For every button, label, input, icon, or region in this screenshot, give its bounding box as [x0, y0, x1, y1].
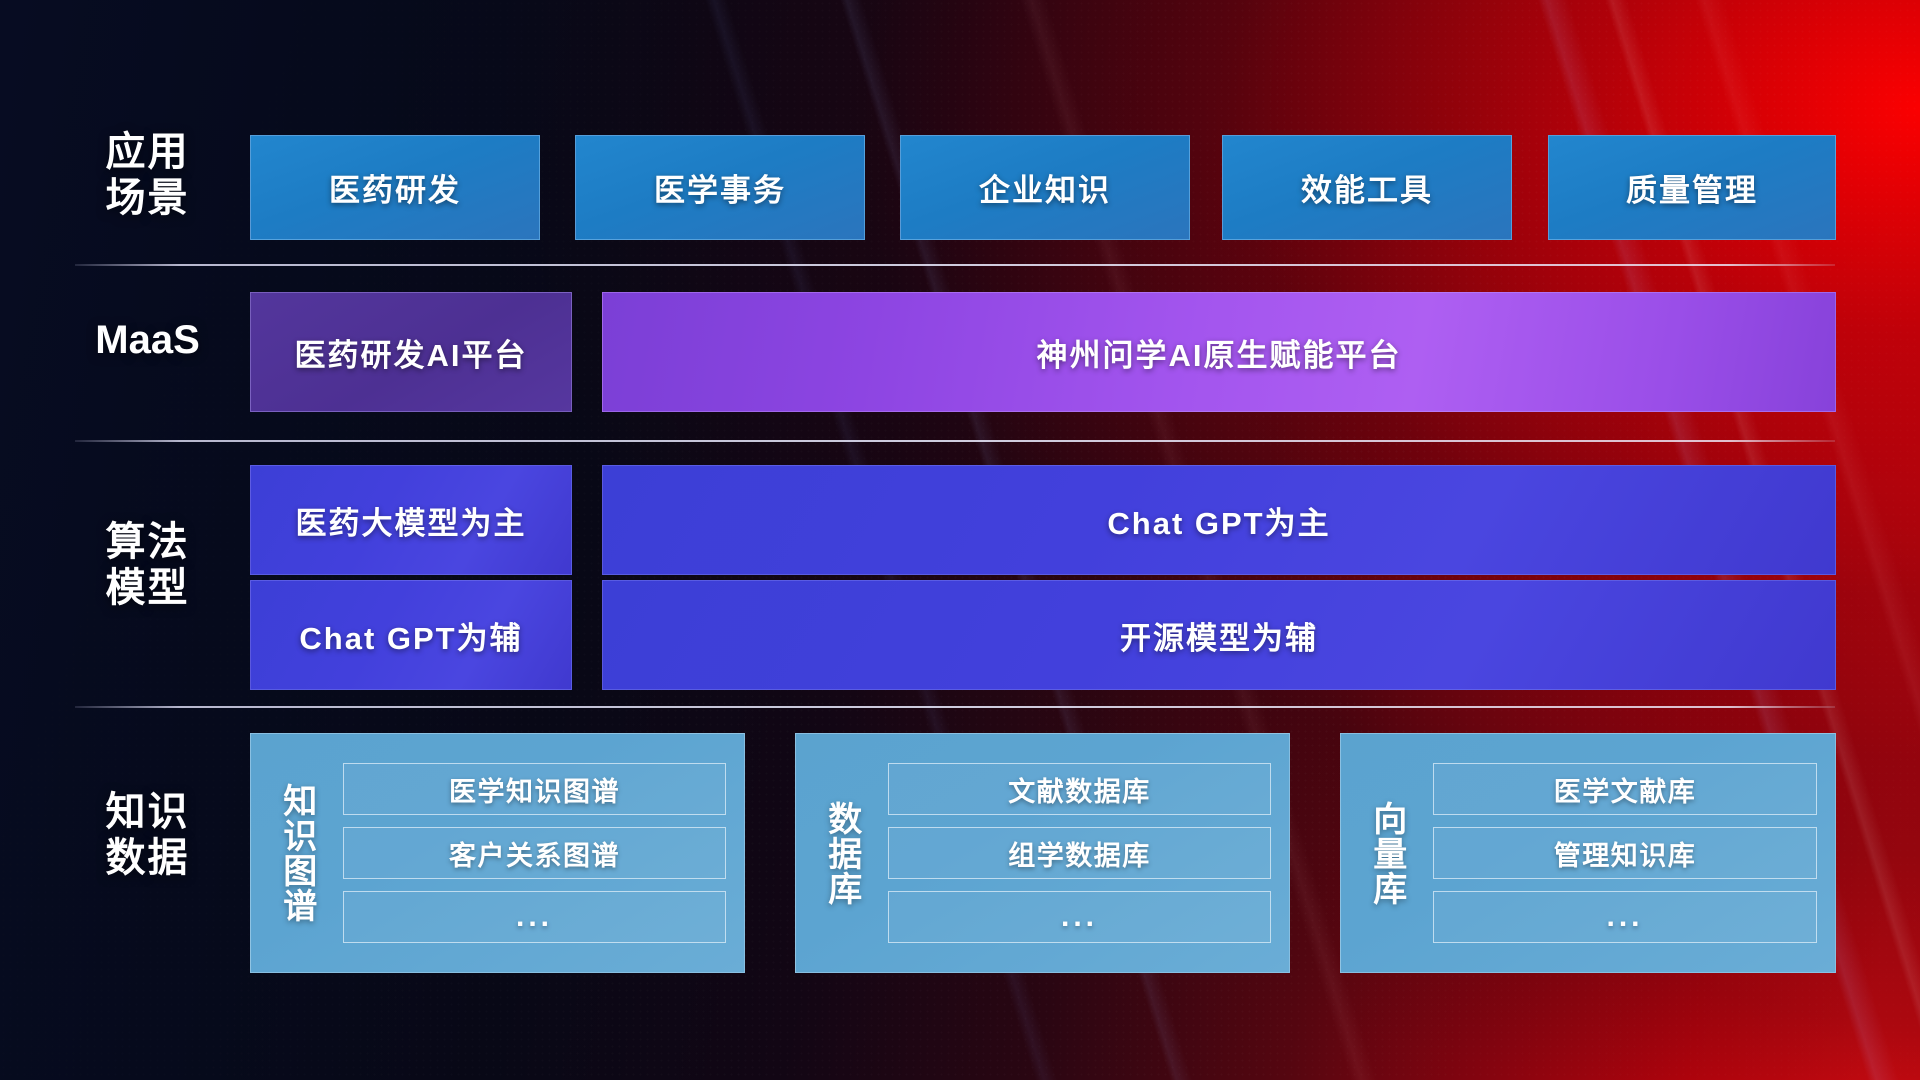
app-box-5[interactable]: 质量管理 [1548, 135, 1836, 240]
app-box-1[interactable]: 医药研发 [250, 135, 540, 240]
algo-right-box-1-label: Chat GPT为主 [1107, 498, 1330, 543]
divider-1 [75, 264, 1835, 266]
app-box-2-label: 医学事务 [654, 165, 786, 210]
row-label-kd-line-1: 知识 [80, 790, 215, 836]
row-label-kd-line-2: 数据 [80, 836, 215, 882]
divider-2 [75, 440, 1835, 442]
divider-3 [75, 706, 1835, 708]
app-box-3[interactable]: 企业知识 [900, 135, 1190, 240]
slide-canvas: 应用 场景 医药研发 医学事务 企业知识 效能工具 质量管理 MaaS 医药研发… [0, 0, 1920, 1080]
row-label-maas: MaaS [80, 318, 215, 364]
app-box-5-label: 质量管理 [1626, 165, 1758, 210]
knowledge-panel-2-items: 文献数据库 组学数据库 ... [888, 748, 1271, 958]
row-label-line-1: 应用 [80, 130, 215, 176]
knowledge-panel-3-item-2[interactable]: 管理知识库 [1433, 827, 1817, 879]
knowledge-panel-3-item-1[interactable]: 医学文献库 [1433, 763, 1817, 815]
knowledge-panel-2-item-1[interactable]: 文献数据库 [888, 763, 1271, 815]
algo-right-box-1[interactable]: Chat GPT为主 [602, 465, 1836, 575]
knowledge-panel-3[interactable]: 向量库 医学文献库 管理知识库 ... [1340, 733, 1836, 973]
row-label-maas-text: MaaS [80, 318, 215, 364]
maas-left-box-label: 医药研发AI平台 [295, 330, 528, 375]
app-box-4-label: 效能工具 [1301, 165, 1433, 210]
maas-left-box[interactable]: 医药研发AI平台 [250, 292, 572, 412]
row-label-line-2: 场景 [80, 176, 215, 222]
app-box-3-label: 企业知识 [979, 165, 1111, 210]
maas-right-box[interactable]: 神州问学AI原生赋能平台 [602, 292, 1836, 412]
knowledge-panel-2[interactable]: 数据库 文献数据库 组学数据库 ... [795, 733, 1290, 973]
algo-right-box-2[interactable]: 开源模型为辅 [602, 580, 1836, 690]
knowledge-panel-1-vertical-label: 知识图谱 [265, 783, 327, 923]
knowledge-panel-2-item-3[interactable]: ... [888, 891, 1271, 943]
row-label-application-scenarios: 应用 场景 [80, 130, 215, 221]
algo-left-box-2[interactable]: Chat GPT为辅 [250, 580, 572, 690]
row-label-algorithm-model: 算法 模型 [80, 520, 215, 611]
knowledge-panel-1-items: 医学知识图谱 客户关系图谱 ... [343, 748, 726, 958]
knowledge-panel-1-item-1[interactable]: 医学知识图谱 [343, 763, 726, 815]
algo-left-box-1-label: 医药大模型为主 [296, 498, 527, 543]
knowledge-panel-1-item-2[interactable]: 客户关系图谱 [343, 827, 726, 879]
knowledge-panel-1-item-3[interactable]: ... [343, 891, 726, 943]
knowledge-panel-3-vertical-label: 向量库 [1355, 801, 1417, 906]
row-label-knowledge-data: 知识 数据 [80, 790, 215, 881]
app-box-2[interactable]: 医学事务 [575, 135, 865, 240]
knowledge-panel-3-item-3[interactable]: ... [1433, 891, 1817, 943]
knowledge-panel-2-vertical-label: 数据库 [810, 801, 872, 906]
algo-right-box-2-label: 开源模型为辅 [1120, 613, 1318, 658]
algo-left-box-1[interactable]: 医药大模型为主 [250, 465, 572, 575]
row-label-algo-line-2: 模型 [80, 566, 215, 612]
row-label-algo-line-1: 算法 [80, 520, 215, 566]
knowledge-panel-3-items: 医学文献库 管理知识库 ... [1433, 748, 1817, 958]
algo-left-box-2-label: Chat GPT为辅 [299, 613, 522, 658]
maas-right-box-label: 神州问学AI原生赋能平台 [1037, 330, 1402, 375]
app-box-1-label: 医药研发 [329, 165, 461, 210]
knowledge-panel-2-item-2[interactable]: 组学数据库 [888, 827, 1271, 879]
knowledge-panel-1[interactable]: 知识图谱 医学知识图谱 客户关系图谱 ... [250, 733, 745, 973]
app-box-4[interactable]: 效能工具 [1222, 135, 1512, 240]
